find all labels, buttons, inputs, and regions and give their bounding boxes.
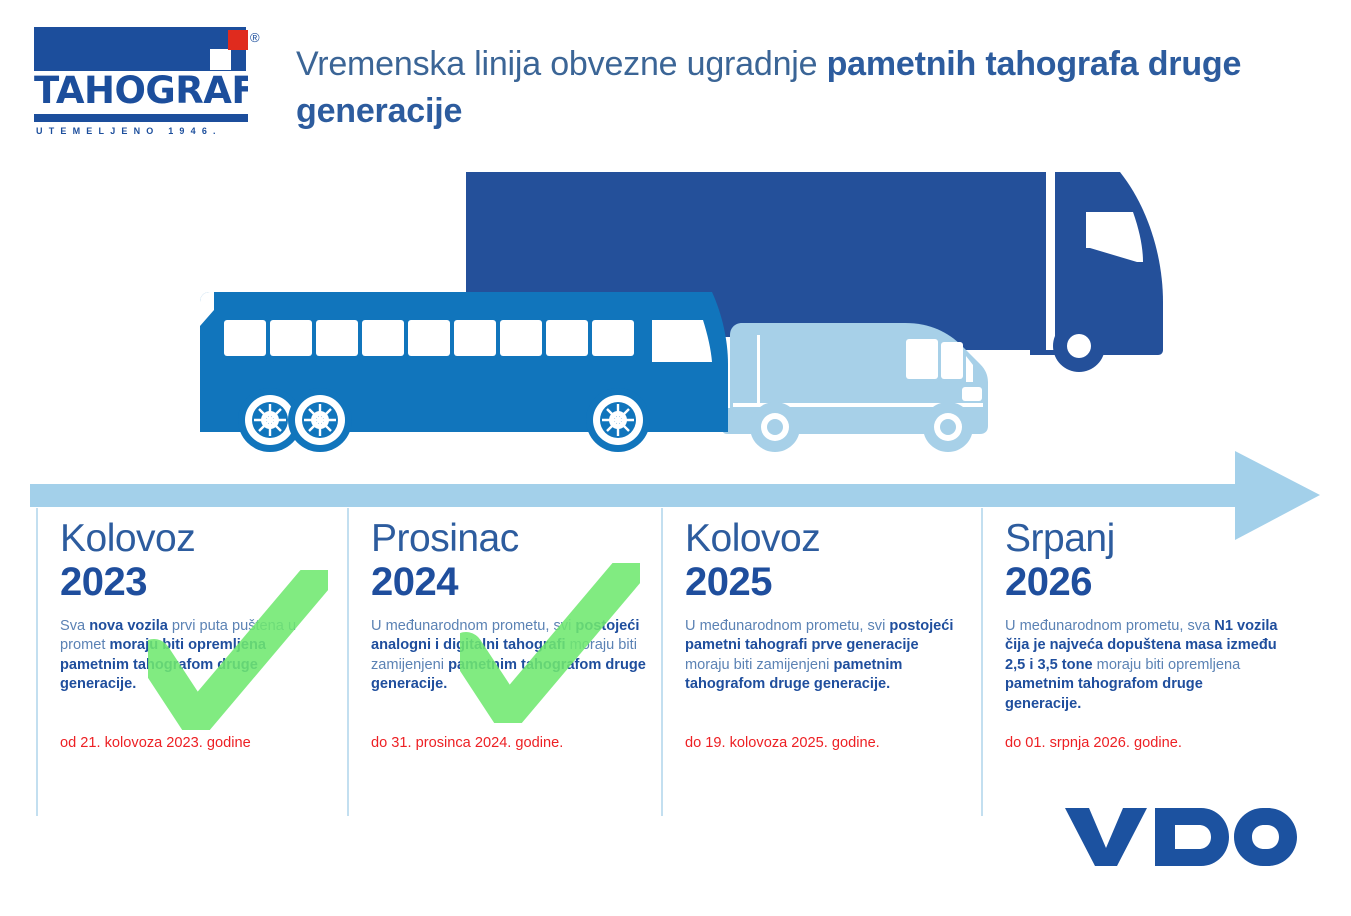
body-text-run: U međunarodnom prometu, svi	[371, 618, 575, 634]
timeline-body: Sva nova vozila prvi puta puštena u prom…	[60, 617, 338, 695]
timeline-month: Srpanj	[1005, 517, 1283, 560]
vehicle-illustration	[0, 150, 1351, 460]
timeline-month: Prosinac	[371, 517, 649, 560]
timeline-year: 2024	[371, 560, 649, 605]
timeline-year: 2023	[60, 560, 338, 605]
timeline-columns: Kolovoz 2023 Sva nova vozila prvi puta p…	[36, 508, 1336, 818]
timeline-date: do 31. prosinca 2024. godine.	[371, 734, 563, 752]
tahograf-logo: ® TAHOGRAF UTEMELJENO 1946.	[34, 27, 256, 127]
timeline-date: do 19. kolovoza 2025. godine.	[685, 734, 880, 752]
body-text-run: U međunarodnom prometu, sva	[1005, 618, 1214, 634]
timeline-date: od 21. kolovoza 2023. godine	[60, 734, 251, 752]
body-text-run: U međunarodnom prometu, svi	[685, 618, 889, 634]
header: ® TAHOGRAF UTEMELJENO 1946. Vremenska li…	[0, 0, 1351, 150]
logo-tagline: UTEMELJENO 1946.	[36, 126, 250, 136]
body-text-emphasis: nova vozila	[89, 618, 168, 634]
timeline-column-2024: Prosinac 2024 U međunarodnom prometu, sv…	[347, 508, 659, 816]
body-text-run: Sva	[60, 618, 89, 634]
timeline-month: Kolovoz	[685, 517, 963, 560]
vdo-logo	[1063, 806, 1313, 868]
logo-underline-rule	[34, 114, 248, 122]
logo-white-square-icon	[210, 49, 231, 70]
timeline-body: U međunarodnom prometu, sva N1 vozila či…	[1005, 617, 1283, 714]
registered-trademark-icon: ®	[250, 31, 260, 44]
timeline-body: U međunarodnom prometu, svi postojeći pa…	[685, 617, 963, 695]
timeline-column-2023: Kolovoz 2023 Sva nova vozila prvi puta p…	[36, 508, 348, 816]
body-text-run: moraju biti opremljena	[1093, 657, 1241, 673]
timeline-month: Kolovoz	[60, 517, 338, 560]
timeline-year: 2026	[1005, 560, 1283, 605]
page-title: Vremenska linija obvezne ugradnje pametn…	[296, 41, 1326, 135]
body-text-emphasis: pametnim tahografom druge generacije.	[1005, 676, 1203, 711]
timeline-date: do 01. srpnja 2026. godine.	[1005, 734, 1182, 752]
timeline-body: U međunarodnom prometu, svi postojeći an…	[371, 617, 649, 695]
logo-wordmark: TAHOGRAF	[34, 73, 248, 109]
logo-red-square-icon	[228, 30, 248, 50]
timeline-column-2026: Srpanj 2026 U međunarodnom prometu, sva …	[981, 508, 1293, 816]
van-graphic	[722, 323, 988, 452]
timeline-year: 2025	[685, 560, 963, 605]
page-title-plain: Vremenska linija obvezne ugradnje	[296, 45, 827, 83]
body-text-run: moraju biti zamijenjeni	[685, 657, 833, 673]
bus-graphic	[200, 292, 728, 452]
infographic-page: ® TAHOGRAF UTEMELJENO 1946. Vremenska li…	[0, 0, 1351, 916]
timeline-column-2025: Kolovoz 2025 U međunarodnom prometu, svi…	[661, 508, 973, 816]
